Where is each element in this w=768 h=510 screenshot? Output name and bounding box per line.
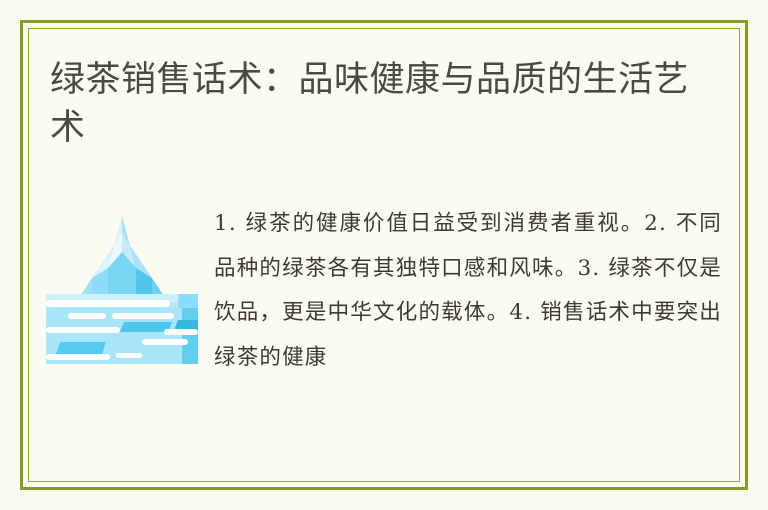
iceberg-illustration: [46, 196, 198, 364]
body-text: 1. 绿茶的健康价值日益受到消费者重视。2. 不同品种的绿茶各有其独特口感和风味…: [214, 202, 722, 381]
page-title: 绿茶销售话术：品味健康与品质的生活艺术: [50, 56, 690, 153]
content-area: 1. 绿茶的健康价值日益受到消费者重视。2. 不同品种的绿茶各有其独特口感和风味…: [46, 196, 722, 470]
slide-canvas: 绿茶销售话术：品味健康与品质的生活艺术: [0, 0, 768, 510]
